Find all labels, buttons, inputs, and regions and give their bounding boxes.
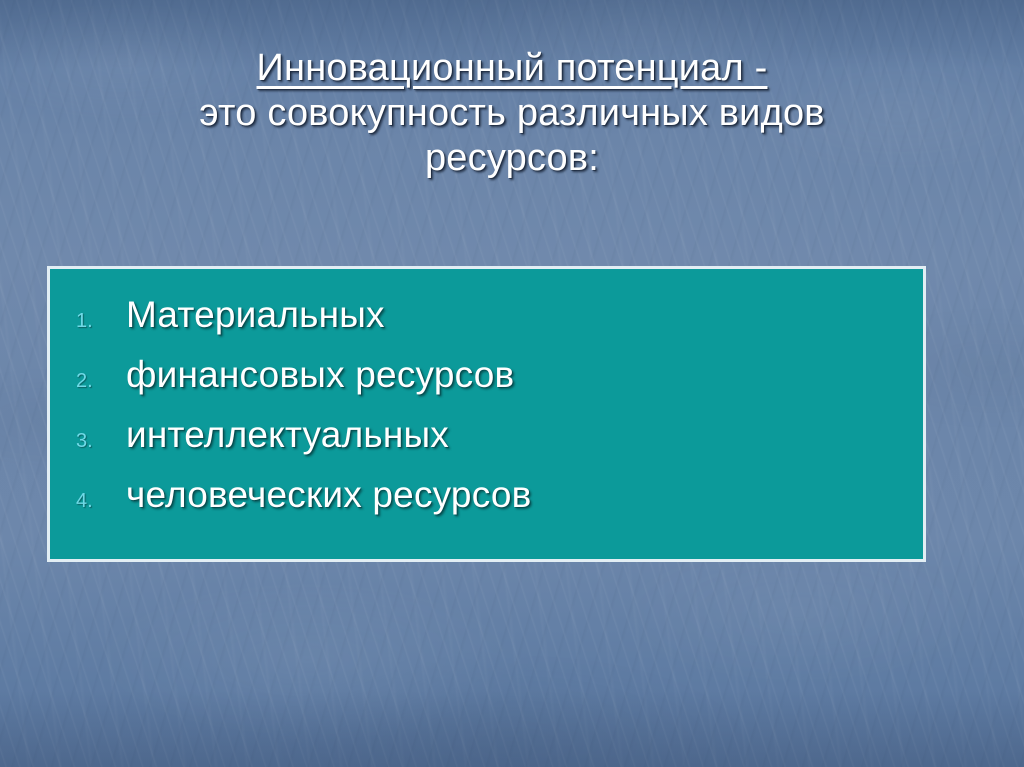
- list-item-number: 4.: [68, 490, 126, 513]
- list-item-number: 2.: [68, 370, 126, 393]
- list-item-number: 1.: [68, 310, 126, 333]
- slide-title-line-1: Инновационный потенциал -: [0, 46, 1024, 91]
- list-item[interactable]: 4. человеческих ресурсов: [50, 473, 923, 533]
- slide-title: Инновационный потенциал - это совокупнос…: [0, 46, 1024, 181]
- list-item[interactable]: 1. Материальных: [50, 293, 923, 353]
- resource-list: 1. Материальных 2. финансовых ресурсов 3…: [50, 293, 923, 533]
- list-item-label: Материальных: [126, 293, 385, 337]
- list-item-label: человеческих ресурсов: [126, 473, 531, 517]
- list-item[interactable]: 2. финансовых ресурсов: [50, 353, 923, 413]
- resource-list-panel: 1. Материальных 2. финансовых ресурсов 3…: [47, 266, 926, 562]
- list-item[interactable]: 3. интеллектуальных: [50, 413, 923, 473]
- list-item-label: финансовых ресурсов: [126, 353, 514, 397]
- presentation-slide: Инновационный потенциал - это совокупнос…: [0, 0, 1024, 767]
- slide-title-line-2: это совокупность различных видов ресурсо…: [117, 91, 907, 181]
- list-item-label: интеллектуальных: [126, 413, 449, 457]
- list-item-number: 3.: [68, 430, 126, 453]
